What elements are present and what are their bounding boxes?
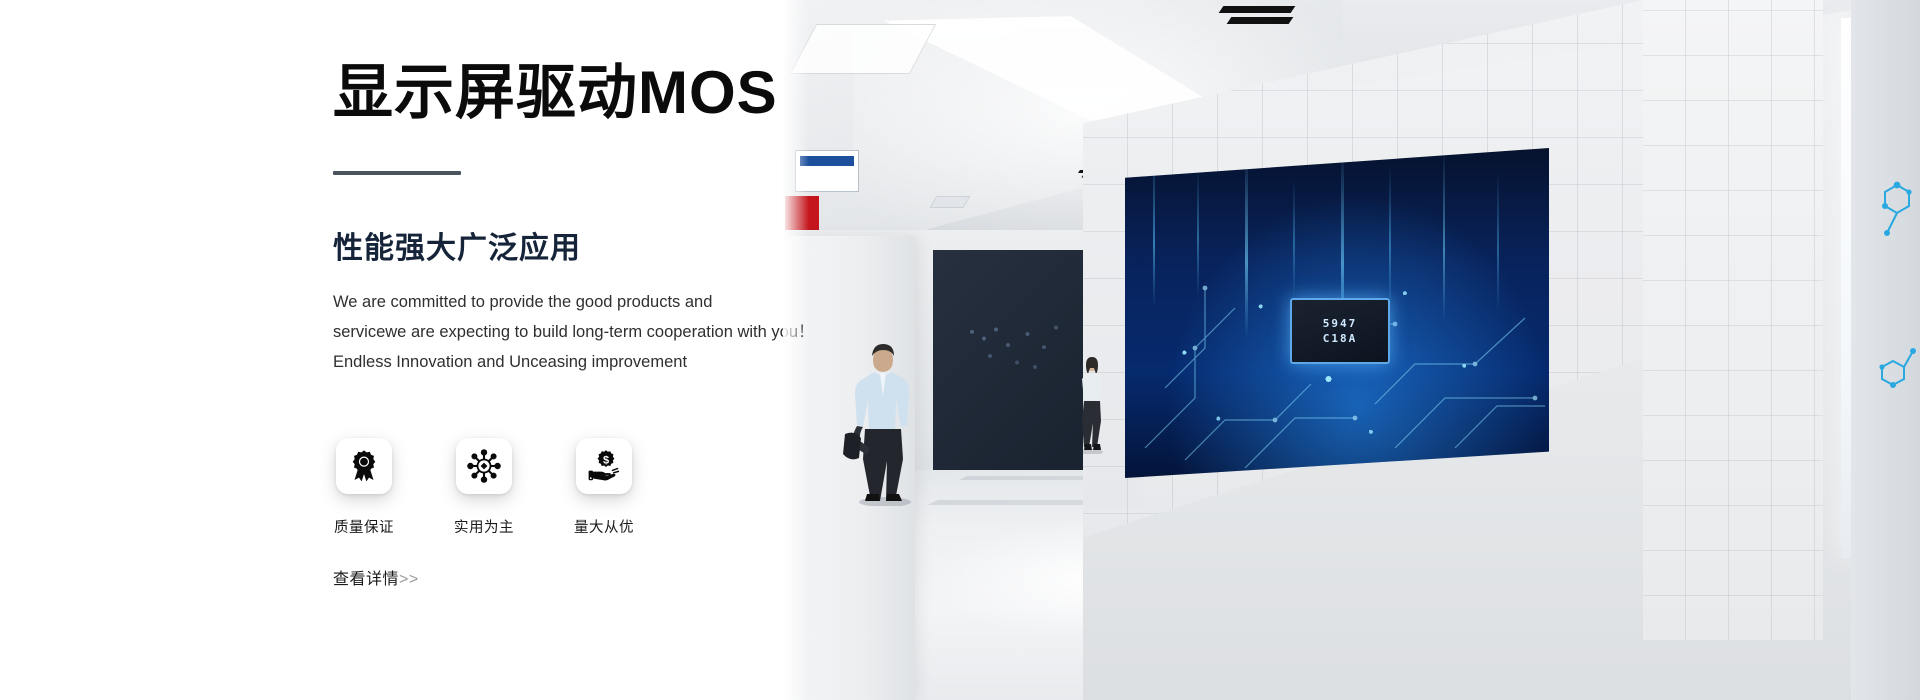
description-line-1: We are committed to provide the good pro… [333, 287, 793, 317]
wall-light-strip [1841, 18, 1851, 558]
svg-text:$: $ [603, 455, 609, 467]
chip-label-line-2: C18A [1323, 331, 1358, 346]
feature-tile [456, 438, 512, 494]
description-line-3: Endless Innovation and Unceasing improve… [333, 347, 793, 377]
view-details-link[interactable]: 查看详情>> [333, 565, 419, 589]
ceiling-logo-emblem [1221, 6, 1293, 28]
feature-item-bulk-discount[interactable]: $ 量大从优 [573, 438, 635, 537]
led-circuit-screen: 5947 C18A [1125, 148, 1549, 478]
person-walking-woman [1075, 356, 1109, 454]
chip-label-line-1: 5947 [1323, 316, 1358, 331]
hero-banner: 显示屏驱动MOS 性能强大广泛应用 We are committed to pr… [0, 0, 1920, 700]
feature-label: 量大从优 [574, 516, 634, 537]
description-paragraph: We are committed to provide the good pro… [333, 287, 793, 377]
chip-graphic: 5947 C18A [1290, 298, 1390, 364]
showroom-corridor-photo: 5947 C18A [783, 0, 1920, 700]
feature-item-practical[interactable]: 实用为主 [453, 438, 515, 537]
description-line-2: servicewe are expecting to build long-te… [333, 317, 793, 347]
feature-list: 质量保证 [333, 438, 635, 537]
chevron-double-right-icon: >> [399, 571, 419, 588]
ceiling-fixture [930, 196, 971, 208]
wall-brand-signage: 电 子 创 和 [1873, 175, 1920, 415]
hand-money-icon: $ [587, 449, 621, 483]
title-divider [333, 171, 461, 175]
photo-edge-blend [783, 0, 809, 700]
copy-block: 显示屏驱动MOS 性能强大广泛应用 We are committed to pr… [333, 60, 753, 377]
subtitle: 性能强大广泛应用 [333, 223, 753, 267]
person-standing-man [843, 334, 921, 506]
hexagon-molecule-icon [1873, 175, 1919, 415]
left-text-panel: 显示屏驱动MOS 性能强大广泛应用 We are committed to pr… [0, 0, 783, 700]
network-hub-icon [467, 449, 501, 483]
feature-tile [336, 438, 392, 494]
feature-item-quality[interactable]: 质量保证 [333, 438, 395, 537]
page-title: 显示屏驱动MOS [333, 60, 753, 126]
feature-label: 实用为主 [454, 516, 514, 537]
view-details-label: 查看详情 [333, 571, 399, 588]
wall-relief-tiles [1643, 0, 1823, 640]
feature-label: 质量保证 [334, 516, 394, 537]
award-ribbon-icon [347, 449, 381, 483]
feature-tile: $ [576, 438, 632, 494]
world-map-graphic [945, 290, 1095, 400]
